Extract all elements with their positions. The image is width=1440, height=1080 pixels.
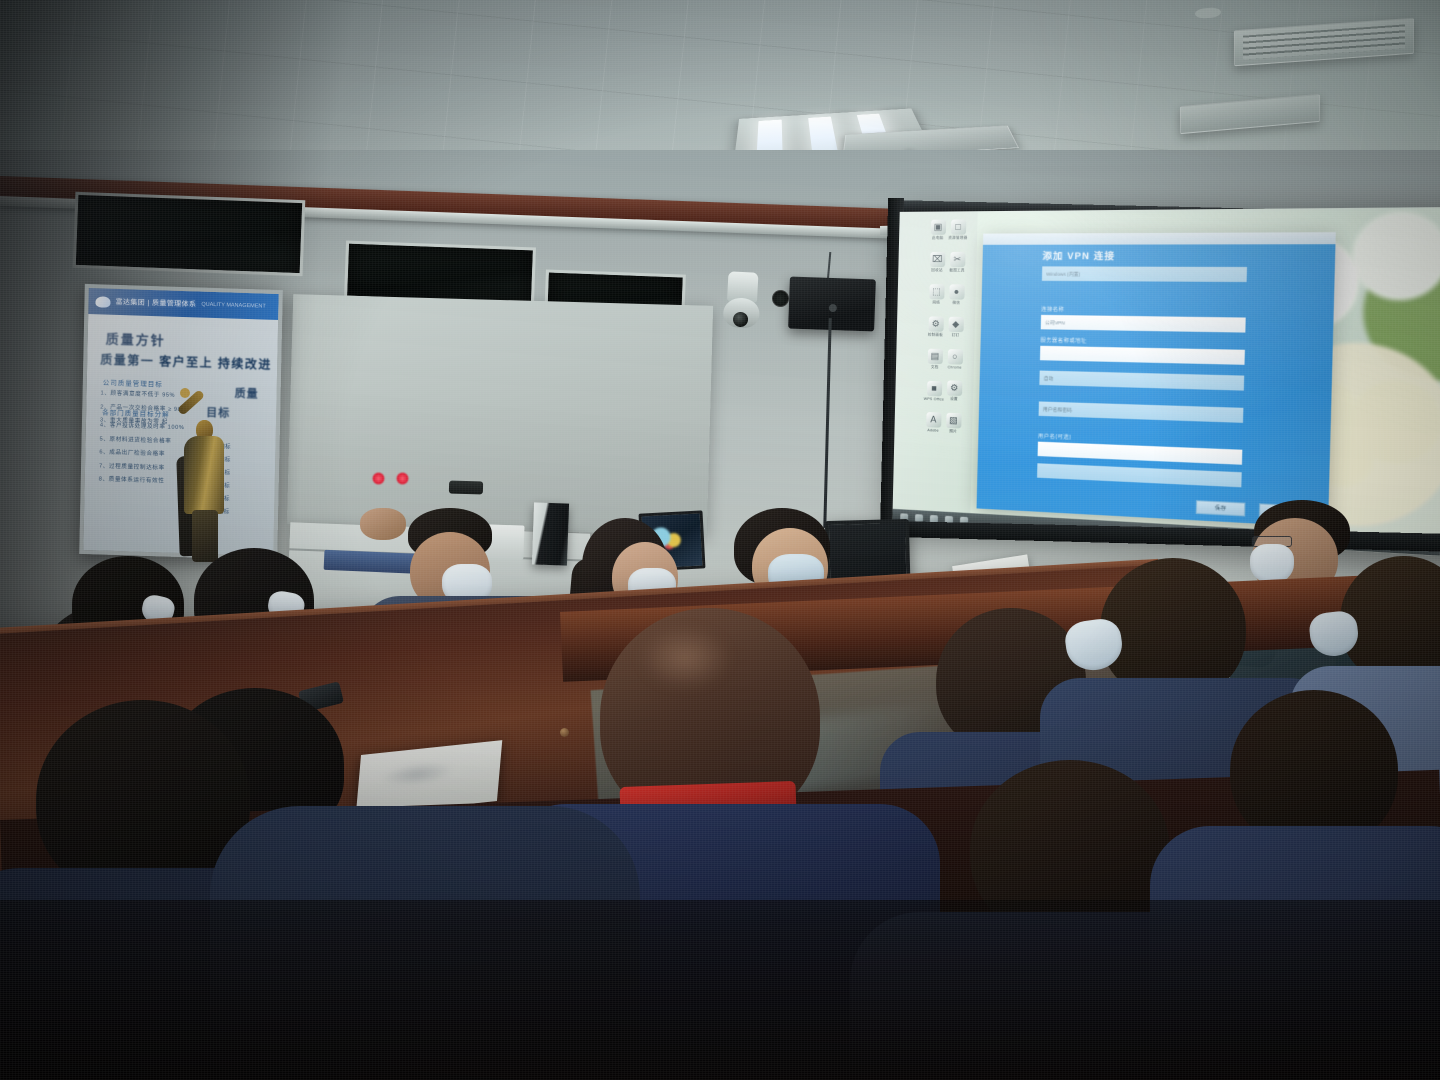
icon-label: 照片	[949, 429, 957, 434]
wechat-icon: ●	[949, 284, 964, 299]
desktop-icon-settings[interactable]: ⚙ 设置	[937, 380, 972, 402]
field-label: 连接名称	[1041, 306, 1246, 316]
desktop-icons-column-2: □ 资源管理器 ✂ 截图工具 ● 微信 ◆ 钉钉 ○ Chrome ⚙ 设置	[936, 219, 975, 434]
desktop-icon-snipping-tool[interactable]: ✂ 截图工具	[940, 252, 975, 273]
poster-header-band: 富达集团 | 质量管理体系 QUALITY MANAGEMENT	[88, 288, 278, 320]
ptz-security-camera	[721, 271, 764, 331]
led-red-2	[396, 472, 409, 485]
field-label: VPN 提供商	[1042, 266, 1247, 274]
field-password[interactable]: 密码(可选)	[1037, 463, 1242, 482]
poster-title: 质量方针	[106, 329, 166, 350]
desktop-icon-wechat[interactable]: ● 微信	[939, 284, 974, 306]
field-vpn-provider[interactable]: VPN 提供商 Windows (内置)	[1042, 266, 1247, 276]
icon-label: 截图工具	[949, 268, 964, 273]
light-tube-2	[808, 117, 838, 154]
bronze-figure-statue	[168, 386, 230, 561]
desktop-icon-dingtalk[interactable]: ◆ 钉钉	[938, 317, 973, 339]
field-label: VPN 类型	[1040, 371, 1245, 384]
dialog-title: 添加 VPN 连接	[1042, 249, 1115, 263]
poster-slogan: 质量第一 客户至上 持续改进	[100, 350, 278, 373]
chrome-icon: ○	[947, 349, 962, 365]
scissors-icon: ✂	[950, 252, 965, 267]
vpn-settings-dialog[interactable]: 添加 VPN 连接 VPN 提供商 Windows (内置) 连接名称 公司VP…	[977, 232, 1336, 527]
statue-torso	[184, 436, 224, 514]
desktop-icon-photos[interactable]: ▧ 照片	[936, 412, 971, 434]
dingtalk-icon: ◆	[948, 317, 963, 332]
floor-shadow	[0, 900, 1440, 1080]
field-vpn-type[interactable]: VPN 类型 自动	[1039, 371, 1244, 386]
icon-label: 设置	[950, 397, 958, 402]
server-address-input[interactable]	[1040, 346, 1245, 365]
wall-whiteboard-panel	[287, 294, 713, 536]
icon-label: 微信	[952, 301, 960, 306]
photos-icon: ▧	[946, 413, 961, 429]
poster-header-subtitle: QUALITY MANAGEMENT	[201, 302, 265, 310]
field-signin-info-type[interactable]: 登录信息的类型 用户名和密码	[1039, 401, 1244, 417]
field-username[interactable]: 用户名(可选)	[1038, 432, 1243, 464]
desktop-icon-chrome[interactable]: ○ Chrome	[938, 349, 973, 370]
wall-speaker	[788, 277, 876, 332]
connection-name-input[interactable]: 公司VPN	[1041, 315, 1246, 333]
poster-section-1-heading: 公司质量管理目标	[103, 377, 163, 389]
led-red-1	[372, 472, 385, 485]
hand-second	[360, 508, 406, 540]
icon-label: 资源管理器	[948, 236, 967, 241]
poster-section-2-heading: 各部门质量目标分解	[102, 407, 170, 419]
icon-label: 钉钉	[952, 333, 960, 338]
dialog-titlebar	[983, 232, 1336, 245]
field-value: 公司VPN	[1045, 320, 1065, 326]
field-server-address[interactable]: 服务器名称或地址	[1040, 337, 1245, 365]
company-logo-icon	[95, 296, 110, 307]
poster-goal-label-a: 质量	[234, 385, 258, 402]
conference-room-photo: 富达集团 | 质量管理体系 QUALITY MANAGEMENT 质量方针 质量…	[0, 0, 1440, 1080]
desktop-icon-explorer[interactable]: □ 资源管理器	[941, 219, 976, 240]
field-connection-name[interactable]: 连接名称 公司VPN	[1041, 306, 1246, 333]
wall-sensor-module	[449, 481, 483, 495]
head-highlight	[638, 626, 732, 690]
wall-clock	[772, 290, 789, 307]
poster-company-name: 富达集团 | 质量管理体系	[115, 297, 196, 310]
statue-hand	[180, 388, 190, 398]
field-label: 密码(可选)	[1037, 463, 1242, 480]
explorer-icon: □	[950, 219, 965, 234]
gear-icon: ⚙	[946, 380, 961, 396]
field-label: 登录信息的类型	[1039, 401, 1244, 415]
icon-label: Chrome	[948, 365, 962, 369]
